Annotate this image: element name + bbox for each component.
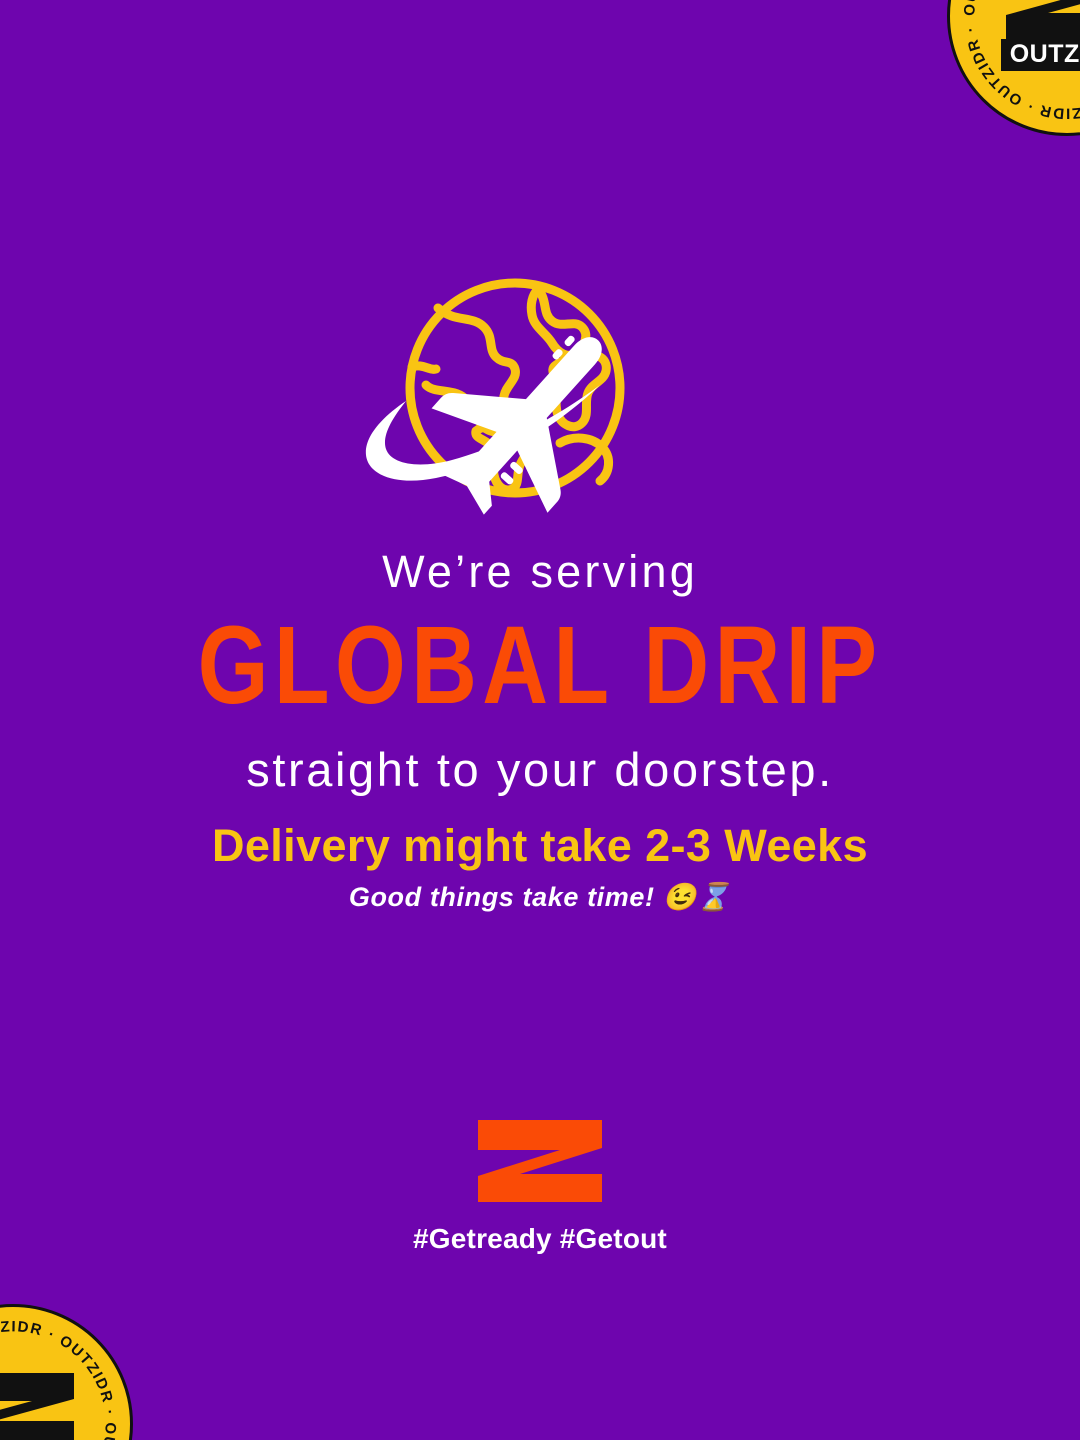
poster-canvas: OUTZIDR · OUTZIDR · OUTZIDR · OUTZIDR · … [0, 0, 1080, 1440]
headline-line-1: We’re serving [0, 548, 1080, 595]
headline-line-2: GLOBAL DRIP [0, 611, 1080, 721]
headline-block: We’re serving GLOBAL DRIP straight to yo… [0, 548, 1080, 795]
badge-center-word: OUTZIDR [1001, 39, 1080, 71]
headline-line-3: straight to your doorstep. [0, 745, 1080, 794]
brand-badge-top-right: OUTZIDR · OUTZIDR · OUTZIDR · OUTZIDR · … [947, 0, 1080, 136]
delivery-subtext: Good things take time! 😉⌛ [0, 883, 1080, 913]
globe-with-airplane-icon [360, 275, 720, 510]
z-logo-icon [0, 1369, 80, 1440]
badge-core-bottom-left: OUTZIDR [0, 1369, 89, 1440]
z-logo-icon [478, 1120, 602, 1202]
badge-core-top-right: OUTZIDR [991, 0, 1080, 71]
footer-block: #Getready #Getout [0, 1120, 1080, 1255]
delivery-block: Delivery might take 2-3 Weeks Good thing… [0, 822, 1080, 912]
footer-hashtags: #Getready #Getout [0, 1223, 1080, 1255]
brand-badge-bottom-left: OUTZIDR · OUTZIDR · OUTZIDR · OUTZIDR · … [0, 1304, 133, 1440]
delivery-headline: Delivery might take 2-3 Weeks [0, 822, 1080, 871]
